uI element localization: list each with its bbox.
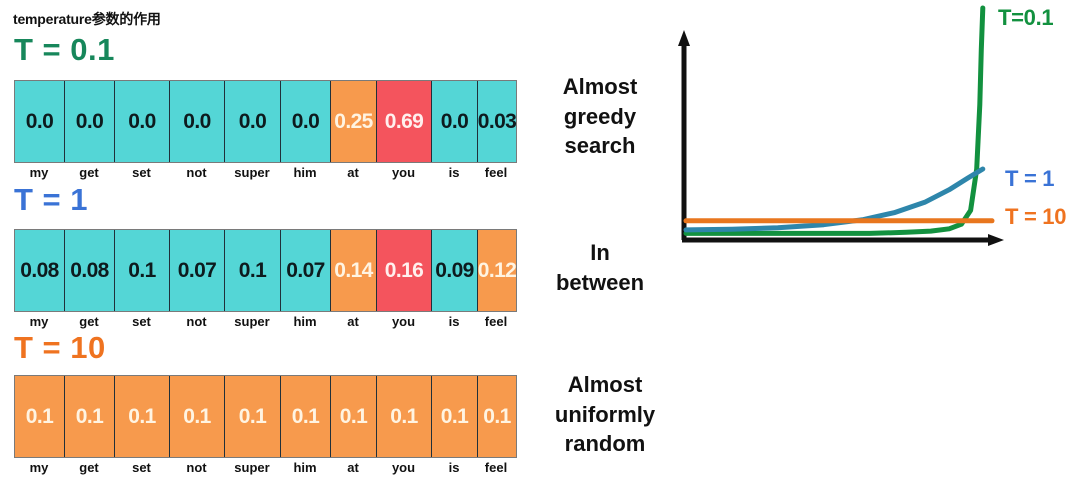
probability-cell: 0.1 [115, 376, 170, 457]
token-label: you [376, 460, 431, 475]
token-label: at [330, 314, 376, 329]
probability-cell: 0.07 [281, 230, 331, 311]
probability-cell: 0.0 [65, 81, 115, 162]
probability-cell: 0.0 [15, 81, 65, 162]
probability-cell: 0.1 [65, 376, 115, 457]
probability-cell: 0.03 [478, 81, 516, 162]
chart-legend-t1: T = 1 [1005, 166, 1054, 192]
caption-t10: Almost uniformly random [530, 370, 680, 459]
probability-cell: 0.0 [225, 81, 281, 162]
token-label: my [14, 165, 64, 180]
token-label: feel [477, 165, 515, 180]
probability-cell: 0.1 [281, 376, 331, 457]
probability-cell: 0.1 [225, 376, 281, 457]
token-label: not [169, 460, 224, 475]
probability-cell: 0.0 [115, 81, 170, 162]
temperature-heading-1: T = 1 [14, 184, 88, 215]
caption-line: search [530, 131, 670, 161]
caption-t1: In between [530, 238, 670, 297]
temperature-softmax-chart: T=0.1 T = 1 T = 10 [660, 0, 1080, 260]
probability-cell: 0.1 [170, 376, 225, 457]
probability-bar-row-t01: 0.00.00.00.00.00.00.250.690.00.03 [14, 80, 517, 163]
token-label: is [431, 460, 477, 475]
probability-cell: 0.1 [377, 376, 432, 457]
token-tick-labels-t10: mygetsetnotsuperhimatyouisfeel [14, 460, 515, 475]
token-label: at [330, 165, 376, 180]
slide-canvas: temperature参数的作用 T = 0.1 0.00.00.00.00.0… [0, 0, 1080, 482]
caption-line: uniformly [530, 400, 680, 430]
probability-cell: 0.12 [478, 230, 516, 311]
token-label: super [224, 460, 280, 475]
token-label: super [224, 165, 280, 180]
probability-cell: 0.0 [432, 81, 478, 162]
caption-line: random [530, 429, 680, 459]
chart-series-t0.1 [686, 8, 983, 233]
probability-cell: 0.1 [225, 230, 281, 311]
token-label: my [14, 460, 64, 475]
probability-cell: 0.08 [15, 230, 65, 311]
temperature-heading-10: T = 10 [14, 332, 106, 363]
probability-cell: 0.0 [281, 81, 331, 162]
chart-legend-t01: T=0.1 [998, 5, 1053, 31]
caption-line: between [530, 268, 670, 298]
token-label: my [14, 314, 64, 329]
probability-cell: 0.1 [115, 230, 170, 311]
probability-cell: 0.07 [170, 230, 225, 311]
token-label: set [114, 460, 169, 475]
caption-line: Almost [530, 72, 670, 102]
probability-bar-row-t1: 0.080.080.10.070.10.070.140.160.090.12 [14, 229, 517, 312]
token-label: him [280, 314, 330, 329]
probability-bar-row-t10: 0.10.10.10.10.10.10.10.10.10.1 [14, 375, 517, 458]
probability-cell: 0.08 [65, 230, 115, 311]
token-label: get [64, 460, 114, 475]
token-label: set [114, 165, 169, 180]
token-label: super [224, 314, 280, 329]
caption-line: Almost [530, 370, 680, 400]
probability-cell: 0.09 [432, 230, 478, 311]
probability-cell: 0.1 [432, 376, 478, 457]
token-label: him [280, 165, 330, 180]
token-label: get [64, 165, 114, 180]
caption-line: greedy [530, 102, 670, 132]
token-label: him [280, 460, 330, 475]
probability-cell: 0.0 [170, 81, 225, 162]
token-tick-labels-t01: mygetsetnotsuperhimatyouisfeel [14, 165, 515, 180]
chart-curves [686, 8, 992, 233]
token-label: not [169, 165, 224, 180]
page-title: temperature参数的作用 [13, 9, 161, 29]
probability-cell: 0.1 [15, 376, 65, 457]
probability-cell: 0.1 [478, 376, 516, 457]
token-label: not [169, 314, 224, 329]
token-label: you [376, 165, 431, 180]
chart-legend-t10: T = 10 [1005, 204, 1066, 230]
probability-cell: 0.14 [331, 230, 377, 311]
token-label: feel [477, 460, 515, 475]
token-label: is [431, 165, 477, 180]
token-label: you [376, 314, 431, 329]
probability-cell: 0.16 [377, 230, 432, 311]
token-label: at [330, 460, 376, 475]
token-label: is [431, 314, 477, 329]
probability-cell: 0.69 [377, 81, 432, 162]
probability-cell: 0.25 [331, 81, 377, 162]
temperature-heading-0.1: T = 0.1 [14, 34, 115, 65]
caption-line: In [530, 238, 670, 268]
caption-t01: Almost greedy search [530, 72, 670, 161]
probability-cell: 0.1 [331, 376, 377, 457]
token-label: set [114, 314, 169, 329]
token-label: feel [477, 314, 515, 329]
token-tick-labels-t1: mygetsetnotsuperhimatyouisfeel [14, 314, 515, 329]
token-label: get [64, 314, 114, 329]
chart-axes [678, 30, 1004, 246]
